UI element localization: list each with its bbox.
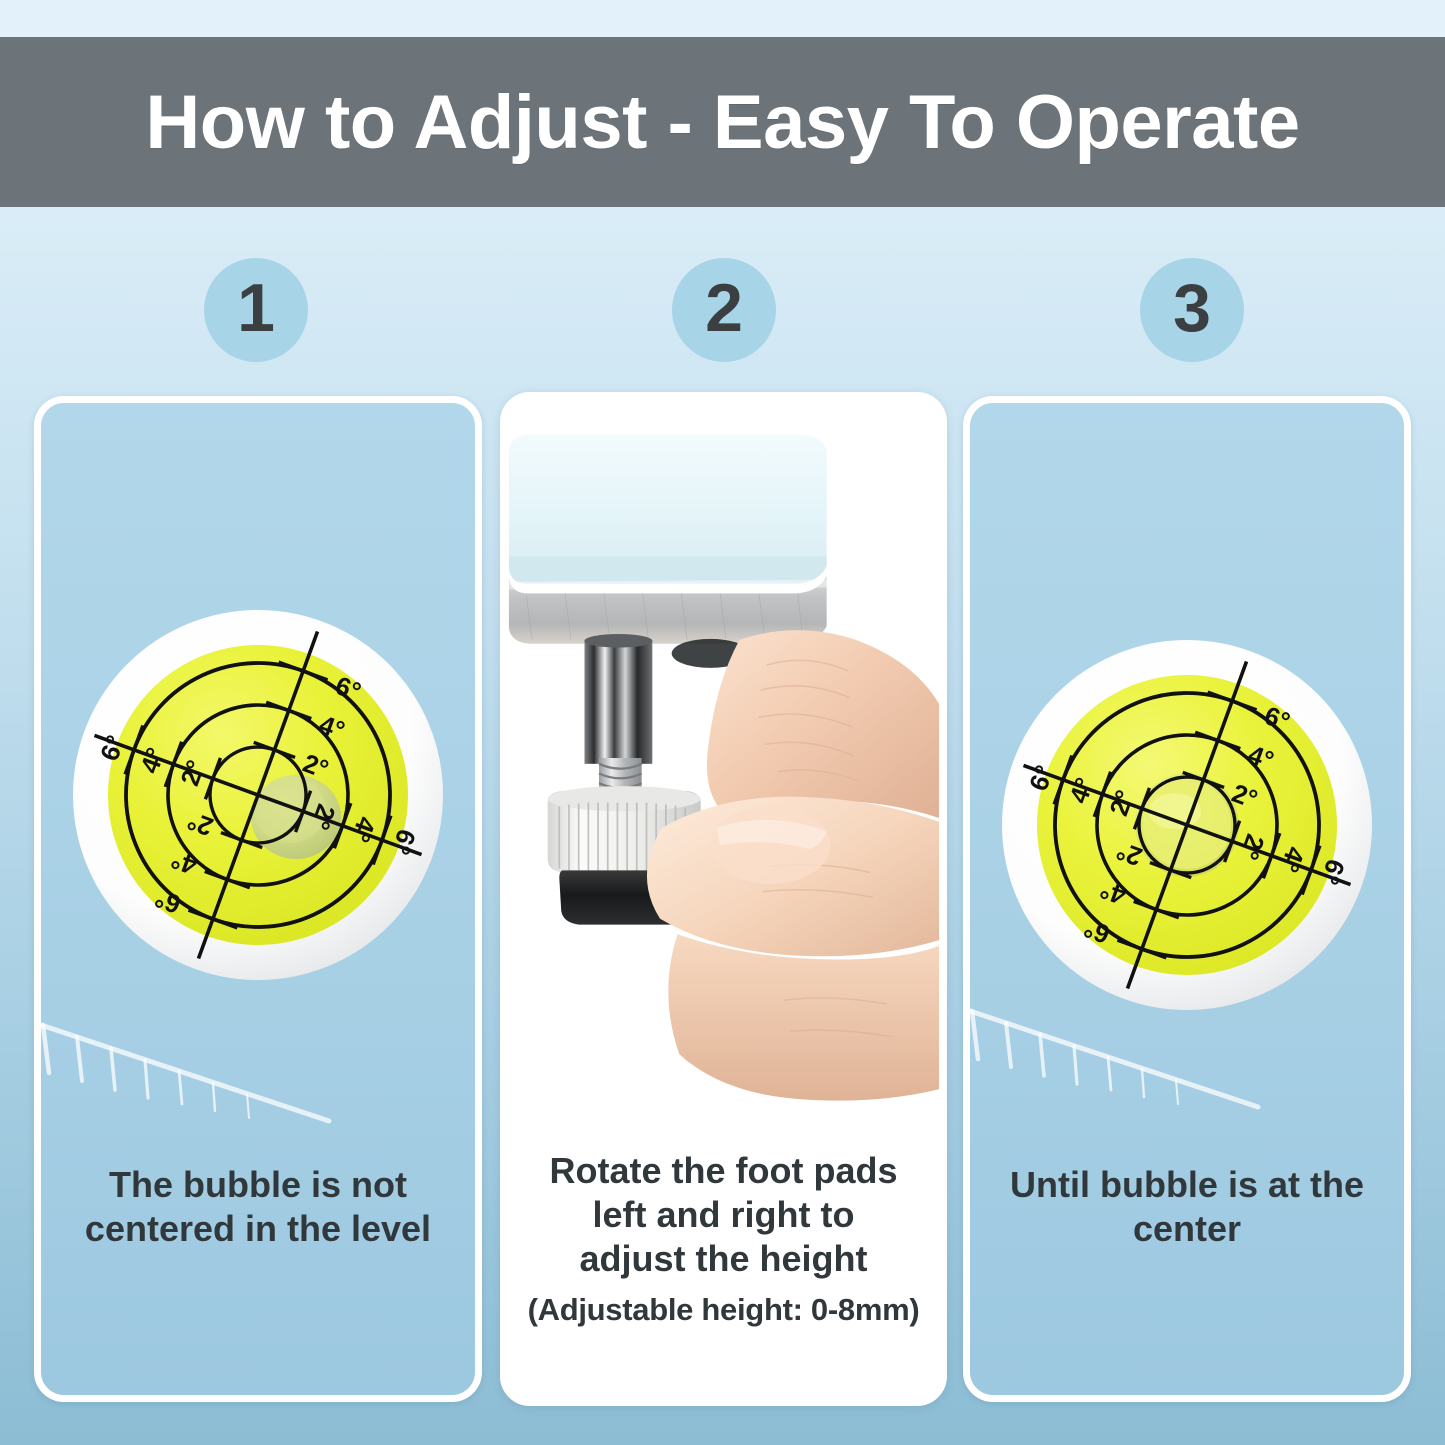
ruler-decoration-icon <box>34 1003 482 1153</box>
step-2-caption-line-1: Rotate the foot pads <box>550 1150 898 1191</box>
step-3-caption-line-1: Until bubble is at the <box>1010 1164 1364 1205</box>
step-badge-2-label: 2 <box>705 274 743 342</box>
middle-finger <box>668 934 939 1100</box>
chrome-rod <box>584 640 652 764</box>
step-panel-3: 2° 4° 6° 2° 4° 6° 2° 4° 6° 2° 4° 6° Unti… <box>963 396 1411 1402</box>
appliance-base-top <box>509 434 827 583</box>
header-bar: How to Adjust - Easy To Operate <box>0 37 1445 207</box>
foot-pad-adjustment-photo <box>507 399 940 1179</box>
bubble-level-gauge-step1: 2° 4° 6° 2° 4° 6° 2° 4° 6° 2° 4° 6° <box>68 605 448 985</box>
step-3-caption-line-2: center <box>1133 1208 1241 1249</box>
step-3-caption: Until bubble is at the center <box>970 1163 1404 1251</box>
step-badge-3: 3 <box>1140 258 1244 362</box>
step-badge-2: 2 <box>672 258 776 362</box>
step-2-caption-line-2: left and right to <box>593 1194 855 1235</box>
step-badge-1: 1 <box>204 258 308 362</box>
bubble-level-gauge-step3: 2° 4° 6° 2° 4° 6° 2° 4° 6° 2° 4° 6° <box>997 635 1377 1015</box>
page-title: How to Adjust - Easy To Operate <box>145 79 1299 166</box>
step-1-caption-line-2: centered in the level <box>85 1208 431 1249</box>
step-2-caption: Rotate the foot pads left and right to a… <box>507 1149 940 1329</box>
step-2-caption-line-3: adjust the height <box>580 1238 868 1279</box>
step-panel-1: 2° 4° 6° 2° 4° 6° 2° 4° 6° 2° 4° 6° <box>34 396 482 1402</box>
hand-fingers <box>647 630 939 1100</box>
step-1-caption-line-1: The bubble is not <box>109 1164 407 1205</box>
step-badge-3-label: 3 <box>1173 274 1211 342</box>
top-accent-strip <box>0 0 1445 37</box>
step-1-caption: The bubble is not centered in the level <box>41 1163 475 1251</box>
step-badge-1-label: 1 <box>237 274 275 342</box>
step-badge-row: 1 2 3 <box>0 258 1445 366</box>
step-panel-2: Rotate the foot pads left and right to a… <box>500 392 947 1406</box>
step-2-caption-note: (Adjustable height: 0-8mm) <box>521 1291 926 1329</box>
